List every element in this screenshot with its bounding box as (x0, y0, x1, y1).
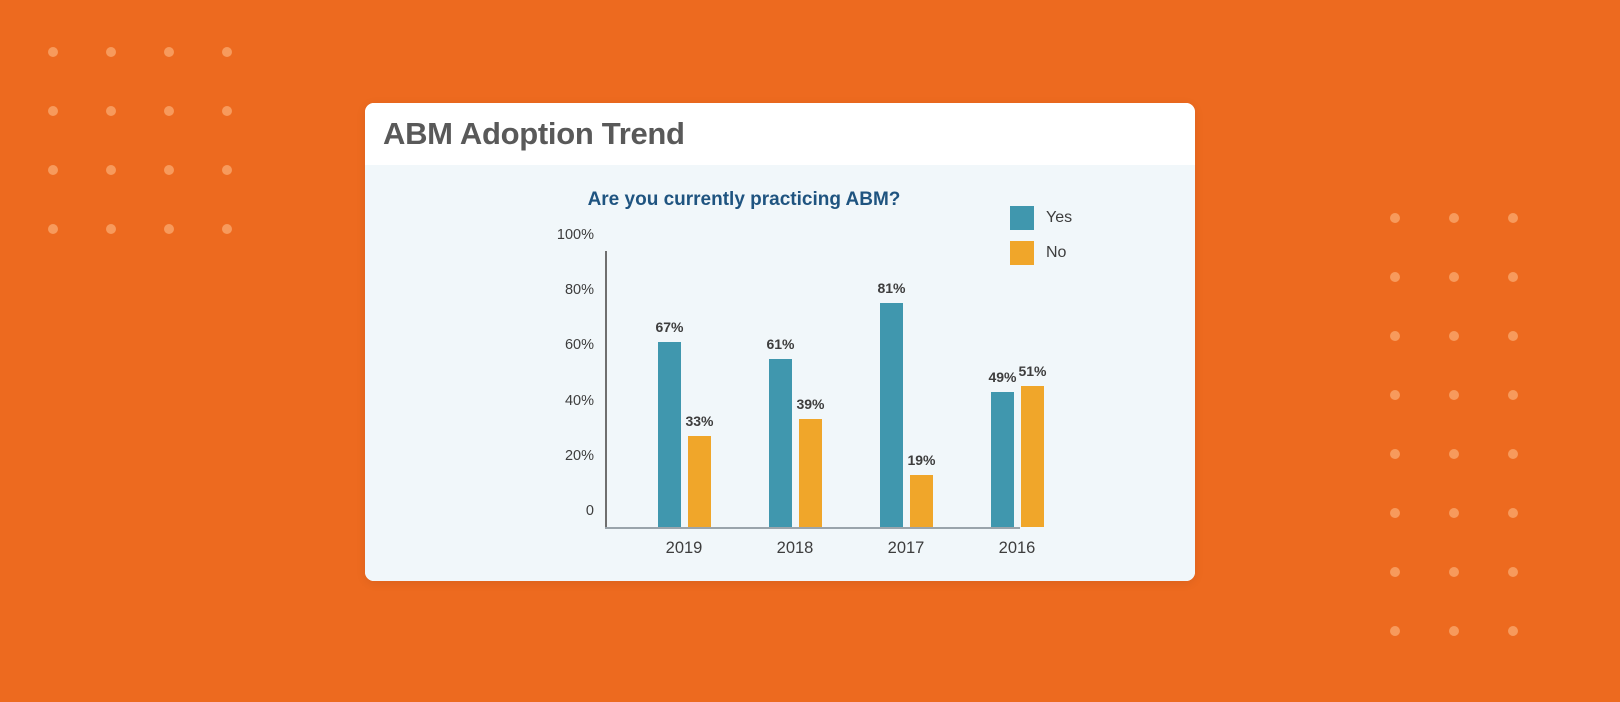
bar-value-label: 81% (877, 280, 905, 296)
decorative-dot (164, 47, 174, 57)
bar-value-label: 33% (685, 413, 713, 429)
decorative-dot (106, 106, 116, 116)
decorative-dot (1449, 508, 1459, 518)
decorative-dot (48, 106, 58, 116)
decorative-dot (1449, 390, 1459, 400)
chart-card: ABM Adoption Trend Are you currently pra… (365, 103, 1195, 581)
decorative-dot (222, 47, 232, 57)
bar-yes-2019[interactable]: 67% (658, 342, 681, 527)
x-axis-line (605, 527, 1020, 529)
y-axis-tick-label: 0 (586, 503, 594, 519)
y-axis-tick-label: 20% (565, 448, 594, 464)
page-background: ABM Adoption Trend Are you currently pra… (0, 0, 1620, 702)
decorative-dot (1390, 567, 1400, 577)
decorative-dot (48, 165, 58, 175)
decorative-dot (1508, 213, 1518, 223)
decorative-dot (1390, 626, 1400, 636)
bar-rect (1021, 386, 1044, 527)
decorative-dot (222, 224, 232, 234)
decorative-dot (222, 106, 232, 116)
decorative-dot (164, 165, 174, 175)
decorative-dot (1390, 449, 1400, 459)
decorative-dot (222, 165, 232, 175)
decorative-dot (1390, 213, 1400, 223)
decorative-dot (1508, 331, 1518, 341)
bar-yes-2017[interactable]: 81% (880, 303, 903, 527)
bar-value-label: 61% (766, 336, 794, 352)
decorative-dot (1508, 449, 1518, 459)
bar-yes-2016[interactable]: 49% (991, 392, 1014, 527)
bar-rect (769, 359, 792, 527)
decorative-dot (1508, 567, 1518, 577)
decorative-dot-grid-left (48, 47, 280, 283)
x-axis-tick-label: 2017 (888, 539, 925, 558)
decorative-dot (164, 106, 174, 116)
decorative-dot (1449, 213, 1459, 223)
decorative-dot (1449, 567, 1459, 577)
legend-item-yes[interactable]: Yes (1010, 206, 1072, 230)
x-axis-tick-label: 2016 (999, 539, 1036, 558)
decorative-dot (1449, 331, 1459, 341)
legend-swatch-icon (1010, 206, 1034, 230)
decorative-dot (1449, 272, 1459, 282)
x-axis-tick-label: 2018 (777, 539, 814, 558)
decorative-dot (1449, 626, 1459, 636)
legend-label: Yes (1046, 209, 1072, 227)
plot-area: 100%80%60%40%20%067%33%201961%39%201881%… (605, 251, 1020, 529)
y-axis-tick-label: 80% (565, 282, 594, 298)
bar-no-2017[interactable]: 19% (910, 475, 933, 527)
card-header: ABM Adoption Trend (365, 103, 1195, 165)
bars-row: 81%19% (880, 303, 933, 527)
y-axis-tick-label: 40% (565, 393, 594, 409)
bar-value-label: 49% (988, 369, 1016, 385)
y-axis-tick-label: 100% (557, 227, 594, 243)
decorative-dot-grid-right (1390, 213, 1567, 685)
chart-panel: Are you currently practicing ABM? YesNo … (365, 165, 1195, 581)
legend-label: No (1046, 244, 1066, 262)
bar-rect (799, 419, 822, 527)
decorative-dot (106, 224, 116, 234)
bar-yes-2018[interactable]: 61% (769, 359, 792, 527)
bars-row: 49%51% (991, 386, 1044, 527)
decorative-dot (1508, 508, 1518, 518)
decorative-dot (1508, 272, 1518, 282)
decorative-dot (48, 47, 58, 57)
bar-rect (910, 475, 933, 527)
y-axis-line (605, 251, 607, 527)
decorative-dot (164, 224, 174, 234)
y-axis-tick-label: 60% (565, 337, 594, 353)
decorative-dot (1390, 508, 1400, 518)
decorative-dot (1390, 272, 1400, 282)
decorative-dot (1508, 390, 1518, 400)
bar-rect (658, 342, 681, 527)
bar-rect (991, 392, 1014, 527)
decorative-dot (1508, 626, 1518, 636)
bar-value-label: 19% (907, 452, 935, 468)
bar-value-label: 67% (655, 319, 683, 335)
page-title: ABM Adoption Trend (383, 116, 685, 152)
bars-row: 61%39% (769, 359, 822, 527)
bar-no-2016[interactable]: 51% (1021, 386, 1044, 527)
decorative-dot (1449, 449, 1459, 459)
decorative-dot (1390, 390, 1400, 400)
bar-no-2018[interactable]: 39% (799, 419, 822, 527)
decorative-dot (106, 47, 116, 57)
bar-value-label: 51% (1018, 363, 1046, 379)
x-axis-tick-label: 2019 (666, 539, 703, 558)
decorative-dot (106, 165, 116, 175)
bar-value-label: 39% (796, 396, 824, 412)
bar-no-2019[interactable]: 33% (688, 436, 711, 527)
decorative-dot (1390, 331, 1400, 341)
bar-rect (880, 303, 903, 527)
bar-rect (688, 436, 711, 527)
decorative-dot (48, 224, 58, 234)
bars-row: 67%33% (658, 342, 711, 527)
